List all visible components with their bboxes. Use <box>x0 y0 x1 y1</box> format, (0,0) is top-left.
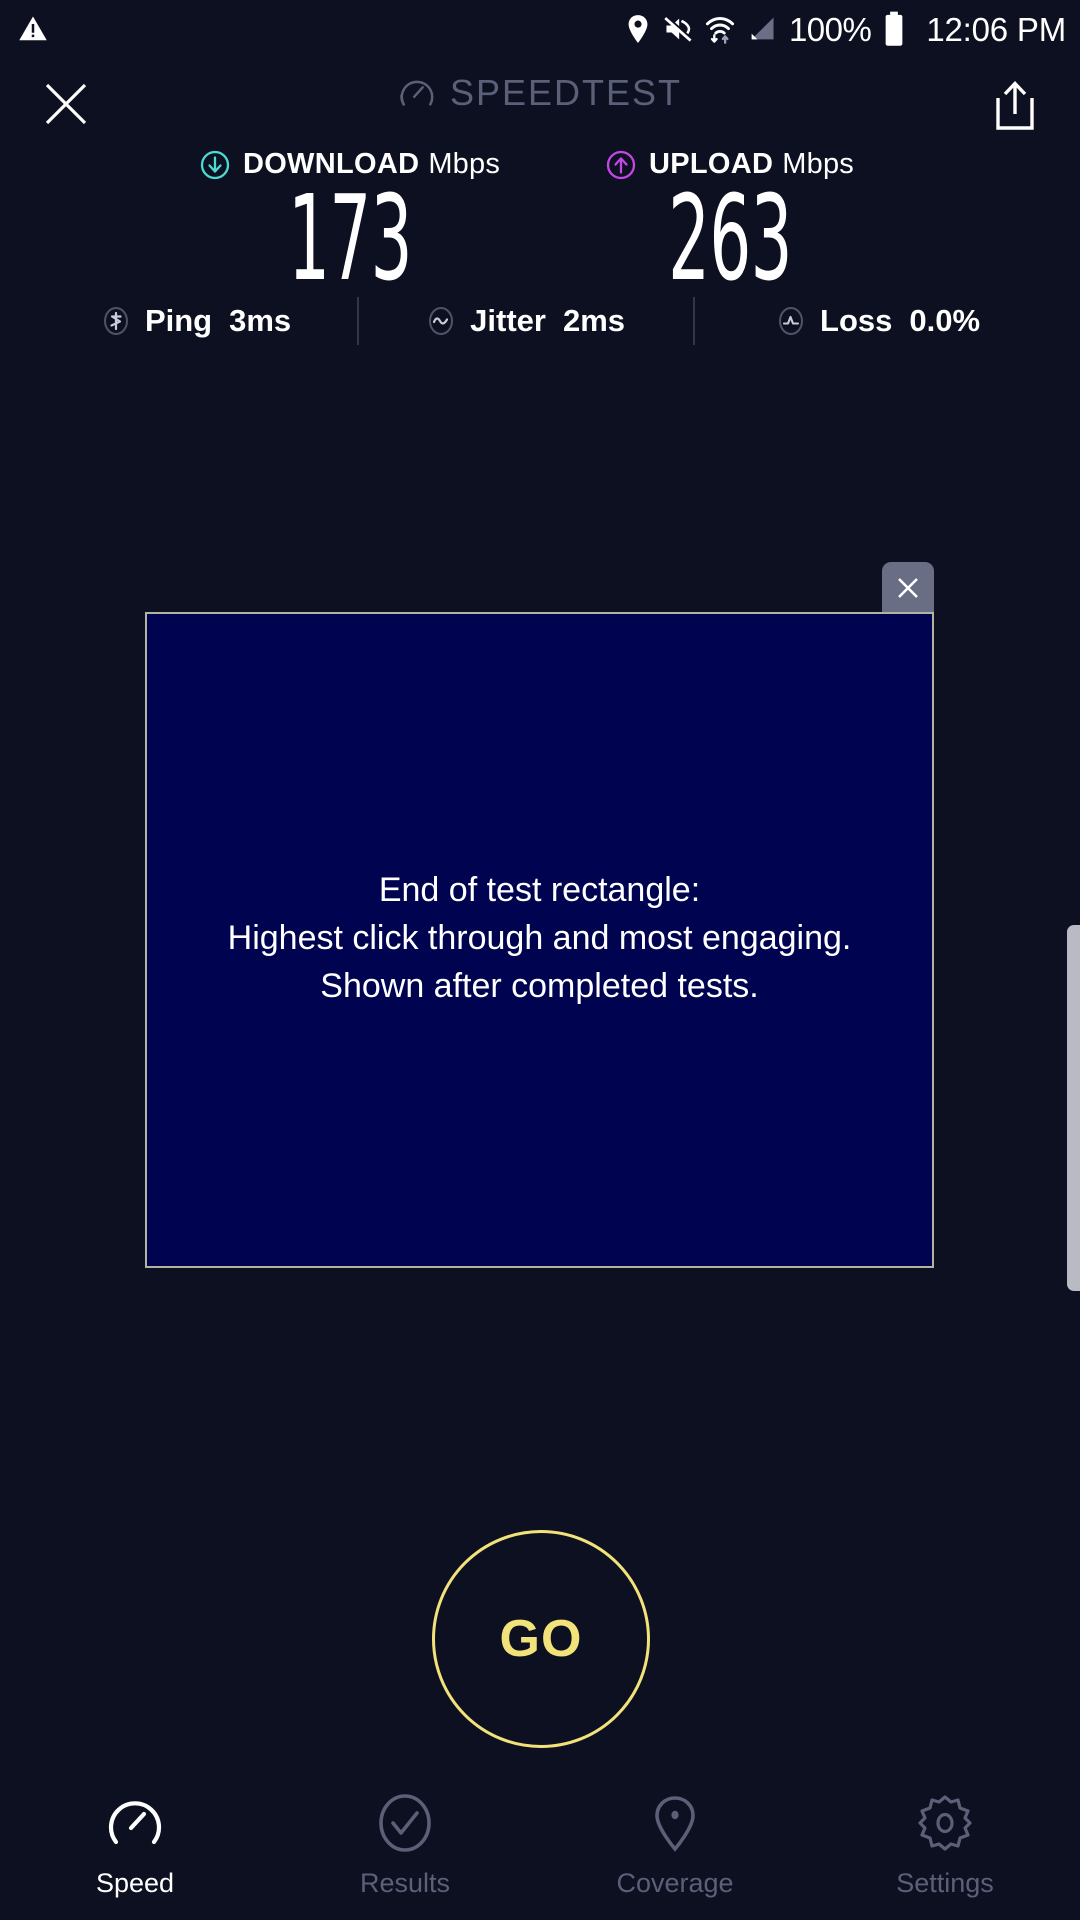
loss-value: 0.0% <box>909 303 980 339</box>
nav-item-coverage[interactable]: Coverage <box>540 1780 810 1920</box>
wifi-icon <box>705 13 735 45</box>
nav-item-speed[interactable]: Speed <box>0 1780 270 1920</box>
go-button-label: GO <box>500 1609 583 1669</box>
cellular-signal-icon <box>747 15 777 43</box>
location-pin-icon <box>644 1792 706 1854</box>
upload-arrow-icon <box>606 150 636 180</box>
metric-loss: Loss 0.0% <box>775 303 980 339</box>
ping-icon <box>100 305 132 337</box>
battery-percent-label: 100% <box>789 13 871 46</box>
vertical-scrollbar[interactable] <box>1067 925 1080 1291</box>
ad-text: End of test rectangle: Highest click thr… <box>228 866 852 1011</box>
nav-label-settings: Settings <box>896 1868 994 1899</box>
status-bar: 100% 12:06 PM <box>0 0 1080 58</box>
upload-unit: Mbps <box>782 148 854 181</box>
jitter-value: 2ms <box>563 303 625 339</box>
speedometer-icon <box>398 74 436 112</box>
nav-item-settings[interactable]: Settings <box>810 1780 1080 1920</box>
download-arrow-icon <box>200 150 230 180</box>
location-pin-icon <box>625 14 651 44</box>
speedtest-app-screen: 100% 12:06 PM SPEEDTEST <box>0 0 1080 1920</box>
go-button[interactable]: GO <box>432 1530 650 1748</box>
app-title: SPEEDTEST <box>450 72 682 114</box>
test-results-panel: DOWNLOAD Mbps UPLOAD Mbps 173 263 <box>0 148 1080 297</box>
status-bar-left <box>18 14 48 44</box>
jitter-icon <box>425 305 457 337</box>
nav-label-results: Results <box>360 1868 450 1899</box>
ad-close-button[interactable] <box>882 562 934 614</box>
loss-label: Loss <box>820 303 892 339</box>
ping-label: Ping <box>145 303 212 339</box>
upload-value: 263 <box>612 179 848 297</box>
loss-icon <box>775 305 807 337</box>
metric-ping: Ping 3ms <box>100 303 291 339</box>
ad-banner[interactable]: End of test rectangle: Highest click thr… <box>145 612 934 1268</box>
status-bar-right: 100% 12:06 PM <box>625 11 1066 47</box>
result-values-row: 173 263 <box>0 179 1080 297</box>
nav-label-speed: Speed <box>96 1868 174 1899</box>
bottom-navigation-bar: Speed Results Coverage Settings <box>0 1780 1080 1920</box>
clock-label: 12:06 PM <box>926 13 1066 46</box>
warning-triangle-icon <box>18 14 48 44</box>
share-icon <box>990 80 1040 134</box>
close-icon <box>893 573 923 603</box>
download-value: 173 <box>232 179 468 297</box>
network-metrics-row: Ping 3ms Jitter 2ms Loss 0.0% <box>0 297 1080 345</box>
metric-jitter: Jitter 2ms <box>425 303 625 339</box>
result-labels-row: DOWNLOAD Mbps UPLOAD Mbps <box>0 148 1080 181</box>
check-circle-icon <box>374 1792 436 1854</box>
ping-value: 3ms <box>229 303 291 339</box>
download-unit: Mbps <box>428 148 500 181</box>
app-header: SPEEDTEST <box>0 58 1080 148</box>
gear-icon <box>914 1792 976 1854</box>
nav-label-coverage: Coverage <box>616 1868 733 1899</box>
volume-mute-icon <box>663 14 693 44</box>
metric-separator <box>693 297 695 345</box>
speedometer-icon <box>104 1792 166 1854</box>
jitter-label: Jitter <box>470 303 546 339</box>
battery-full-icon <box>883 11 905 47</box>
nav-item-results[interactable]: Results <box>270 1780 540 1920</box>
brand-logo: SPEEDTEST <box>0 72 1080 114</box>
share-button[interactable] <box>990 80 1040 134</box>
metric-separator <box>357 297 359 345</box>
